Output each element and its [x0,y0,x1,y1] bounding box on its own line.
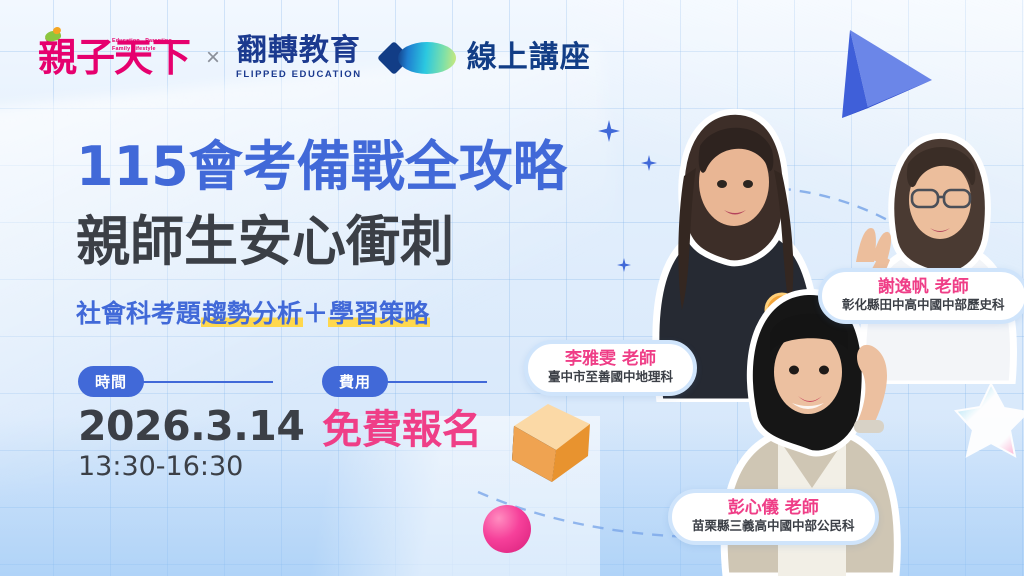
brand-tagline: Education - Parenting Family Lifestyle [112,37,178,54]
speaker-school-2: 彰化縣田中高中國中部歷史科 [842,297,1005,313]
headline-line-2: 親師生安心衝刺 [76,215,454,269]
blue-pyramid-icon [832,18,952,133]
speaker-school-1: 臺中市至善國中地理科 [548,369,673,385]
partner-name-cn: 翻轉教育 [237,36,361,66]
fee-value: 免費報名 [322,407,487,453]
webinar-badge: 線上講座 [382,40,591,76]
speaker-name-2: 謝逸帆 老師 [842,277,1005,297]
cross-separator-icon: × [204,44,222,72]
sparkle-icon-1 [598,120,620,142]
fee-info-block: 費用 免費報名 [322,366,487,453]
subtitle-plus: ＋ [303,300,328,328]
parenting-brand-logo[interactable]: 親子天下 Education - Parenting Family Lifest… [38,39,190,78]
event-time-range: 13:30-16:30 [78,452,304,482]
speaker-name-3: 彭心儀 老師 [692,498,855,518]
speaker-card-2: 謝逸帆 老師 彰化縣田中高中國中部歷史科 [818,268,1024,324]
speaker-card-3: 彭心儀 老師 苗栗縣三義高中國中部公民科 [668,489,879,545]
brand-tagline-line1: Education - Parenting [112,38,172,44]
time-badge: 時間 [78,366,144,397]
orange-cube-icon [500,388,604,492]
webinar-mark-icon [382,40,458,76]
flipped-education-logo[interactable]: 翻轉教育 FLIPPED EDUCATION [236,36,362,80]
speaker-card-1: 李雅雯 老師 臺中市至善國中地理科 [524,340,697,396]
time-badge-row: 時間 [78,366,273,397]
time-info-block: 時間 2026.3.14 13:30-16:30 [78,366,304,482]
sparkle-icon-2 [641,155,657,171]
fee-badge-rule [386,381,487,383]
subtitle: 社會科考題 趨勢分析 ＋ 學習策略 [76,300,430,328]
sparkle-icon-3 [617,258,631,272]
subtitle-plain: 社會科考題 [76,300,201,328]
event-date: 2026.3.14 [78,403,304,450]
partner-name-en: FLIPPED EDUCATION [236,69,362,80]
fee-badge: 費用 [322,366,388,397]
pink-sphere-icon [483,505,531,553]
speaker-name-1: 李雅雯 老師 [548,349,673,369]
gradient-blob-icon [398,42,456,74]
brand-tagline-line2: Family Lifestyle [112,46,156,52]
header-logo-row: 親子天下 Education - Parenting Family Lifest… [38,32,591,84]
subtitle-highlight-2: 學習策略 [328,300,430,328]
speaker-school-3: 苗栗縣三義高中國中部公民科 [692,518,855,534]
fee-badge-row: 費用 [322,366,487,397]
banner-canvas: 親子天下 Education - Parenting Family Lifest… [0,0,1024,576]
subtitle-highlight-1: 趨勢分析 [201,300,303,328]
headline-line-1: 115會考備戰全攻略 [76,140,567,194]
soft-star-icon [952,378,1024,464]
webinar-label: 線上講座 [467,43,591,73]
time-badge-rule [142,381,273,383]
